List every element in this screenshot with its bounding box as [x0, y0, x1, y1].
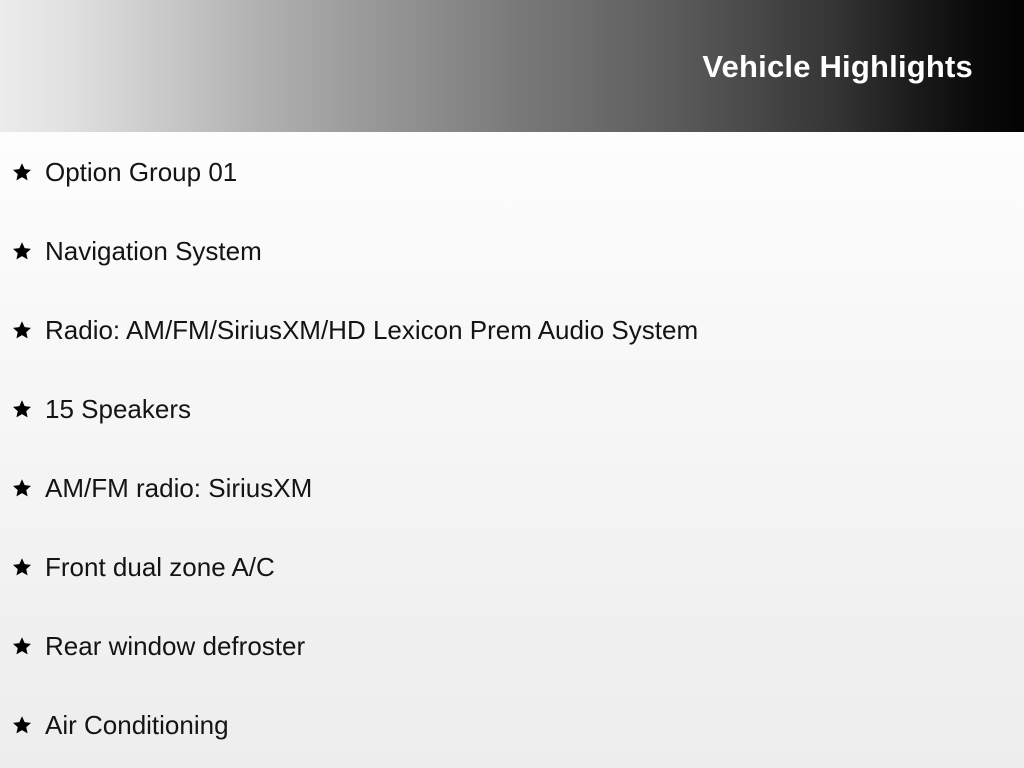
star-icon	[12, 715, 32, 735]
list-item: Navigation System	[0, 211, 1024, 290]
list-item: 15 Speakers	[0, 369, 1024, 448]
star-icon	[12, 399, 32, 419]
star-icon	[12, 478, 32, 498]
list-item: Option Group 01	[0, 132, 1024, 211]
list-item-label: Rear window defroster	[45, 633, 305, 659]
list-item-label: Air Conditioning	[45, 712, 229, 738]
list-item-label: 15 Speakers	[45, 396, 191, 422]
list-item: Rear window defroster	[0, 606, 1024, 685]
star-icon	[12, 241, 32, 261]
list-item-label: Option Group 01	[45, 159, 237, 185]
list-item: Radio: AM/FM/SiriusXM/HD Lexicon Prem Au…	[0, 290, 1024, 369]
vehicle-highlights-list: Option Group 01 Navigation System Radio:…	[0, 132, 1024, 764]
star-icon	[12, 557, 32, 577]
list-item-label: Radio: AM/FM/SiriusXM/HD Lexicon Prem Au…	[45, 317, 698, 343]
list-item-label: Navigation System	[45, 238, 262, 264]
star-icon	[12, 162, 32, 182]
header-banner: Vehicle Highlights	[0, 0, 1024, 132]
list-item-label: Front dual zone A/C	[45, 554, 275, 580]
page-title: Vehicle Highlights	[702, 51, 973, 82]
list-item: Air Conditioning	[0, 685, 1024, 764]
list-item: Front dual zone A/C	[0, 527, 1024, 606]
list-item-label: AM/FM radio: SiriusXM	[45, 475, 312, 501]
star-icon	[12, 320, 32, 340]
star-icon	[12, 636, 32, 656]
vehicle-highlights-page: Vehicle Highlights Option Group 01 Navig…	[0, 0, 1024, 768]
list-item: AM/FM radio: SiriusXM	[0, 448, 1024, 527]
